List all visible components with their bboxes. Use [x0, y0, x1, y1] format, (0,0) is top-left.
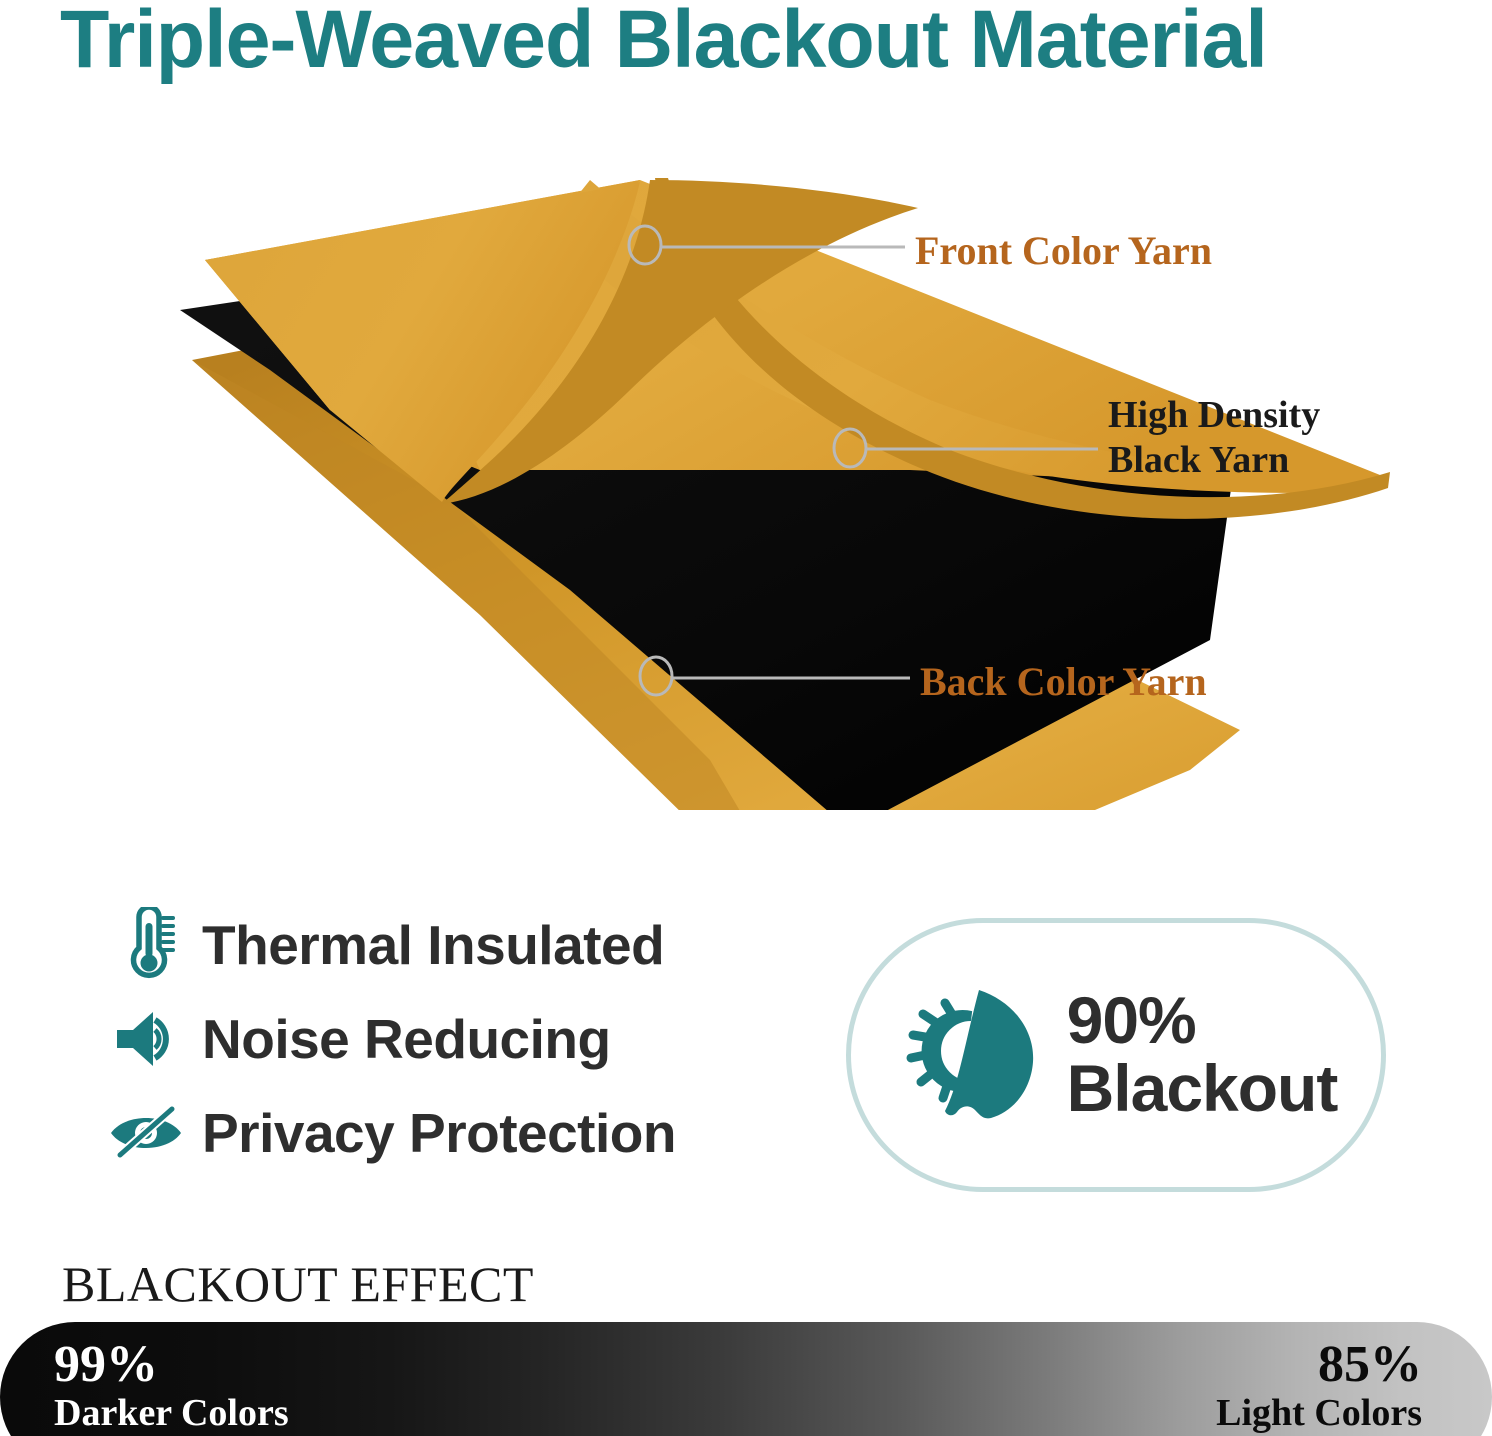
- feature-label-noise-reducing: Noise Reducing: [202, 1007, 611, 1071]
- page-title: Triple-Weaved Blackout Material: [60, 0, 1429, 86]
- speaker-sound-icon: [106, 999, 186, 1079]
- feature-row-noise-reducing: Noise Reducing: [106, 992, 806, 1086]
- badge-percent: 90%: [1067, 987, 1338, 1055]
- thermometer-icon: [106, 905, 186, 985]
- sun-blocked-by-curtain-icon: [895, 980, 1045, 1130]
- effect-right-percent: 85%: [1216, 1338, 1422, 1393]
- product-infographic: Triple-Weaved Blackout Material: [0, 0, 1492, 1436]
- feature-list: Thermal Insulated Noise Reducing: [106, 898, 806, 1180]
- badge-text: 90% Blackout: [1067, 987, 1338, 1123]
- blackout-effect-gradient-bar: 99% Darker Colors 85% Light Colors: [0, 1322, 1492, 1436]
- eye-slash-icon: [106, 1093, 186, 1173]
- effect-bar-right-stat: 85% Light Colors: [1216, 1338, 1422, 1434]
- badge-word: Blackout: [1067, 1055, 1338, 1123]
- callout-label-front: Front Color Yarn: [915, 227, 1212, 274]
- feature-label-privacy-protection: Privacy Protection: [202, 1101, 676, 1165]
- blackout-badge: 90% Blackout: [846, 918, 1386, 1192]
- callout-label-back: Back Color Yarn: [920, 658, 1207, 705]
- feature-row-privacy-protection: Privacy Protection: [106, 1086, 806, 1180]
- callout-label-middle-line2: Black Yarn: [1108, 439, 1289, 481]
- feature-label-thermal-insulated: Thermal Insulated: [202, 913, 664, 977]
- blackout-effect-heading: BLACKOUT EFFECT: [62, 1255, 534, 1313]
- callout-label-middle-line1: High Density: [1108, 394, 1320, 436]
- fabric-layers-diagram: [150, 170, 1400, 810]
- effect-bar-left-stat: 99% Darker Colors: [54, 1338, 289, 1434]
- effect-right-sub: Light Colors: [1216, 1393, 1422, 1435]
- callout-label-middle: High Density Black Yarn: [1108, 393, 1408, 483]
- effect-left-sub: Darker Colors: [54, 1393, 289, 1435]
- effect-left-percent: 99%: [54, 1338, 289, 1393]
- feature-row-thermal-insulated: Thermal Insulated: [106, 898, 806, 992]
